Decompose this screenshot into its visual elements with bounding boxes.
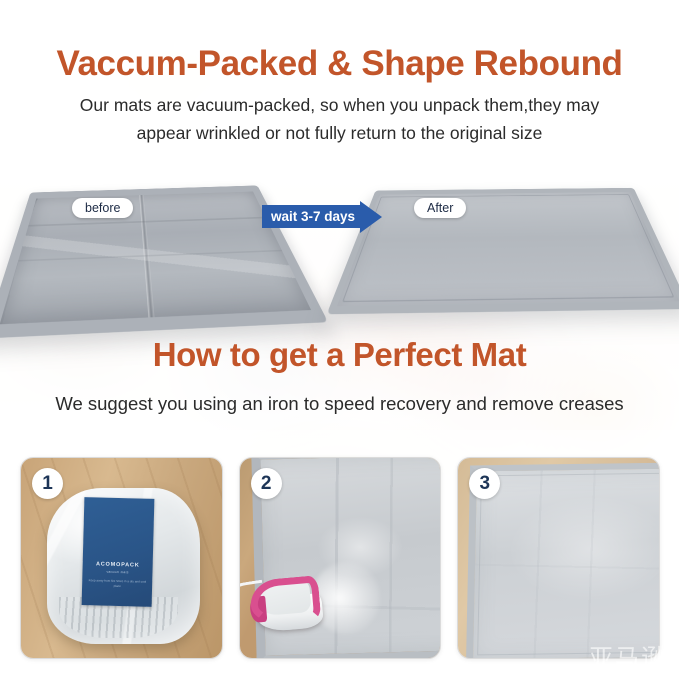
arrow-right-icon [360, 201, 382, 233]
section-two-subline: We suggest you using an iron to speed re… [0, 393, 679, 415]
after-label-badge: After [414, 198, 466, 218]
section-two-headline: How to get a Perfect Mat [0, 336, 679, 374]
step-panel-1: ACOMOPACK vacuum mats Keep away from fir… [20, 457, 223, 659]
step-badge-2: 2 [251, 468, 282, 499]
corner-watermark: 亚马逊 [589, 638, 667, 673]
step-badge-1: 1 [32, 468, 63, 499]
before-after-comparison [0, 160, 679, 320]
wait-arrow-label: wait 3-7 days [262, 205, 361, 228]
section-one-subline-second: appear wrinkled or not fully return to t… [0, 123, 679, 144]
before-label-badge: before [72, 198, 133, 218]
product-label-card: ACOMOPACK vacuum mats Keep away from fir… [82, 497, 155, 607]
brand-tagline: vacuum mats [107, 570, 129, 575]
section-one-subline-first: Our mats are vacuum-packed, so when you … [0, 95, 679, 116]
step-panels: ACOMOPACK vacuum mats Keep away from fir… [20, 457, 660, 659]
step-panel-3: 3 [457, 457, 660, 659]
section-one-headline: Vaccum-Packed & Shape Rebound [0, 44, 679, 84]
steam-iron [247, 575, 324, 635]
wait-arrow-banner: wait 3-7 days [262, 205, 382, 228]
step-panel-2: 2 [239, 457, 442, 659]
brand-name: ACOMOPACK [96, 562, 140, 569]
background-veil-top [0, 0, 679, 172]
infographic-page: Vaccum-Packed & Shape Rebound Our mats a… [0, 0, 679, 679]
label-fine-print: Keep away from fire Store in a dry and c… [88, 578, 147, 590]
mat-surface-texture [473, 468, 660, 659]
